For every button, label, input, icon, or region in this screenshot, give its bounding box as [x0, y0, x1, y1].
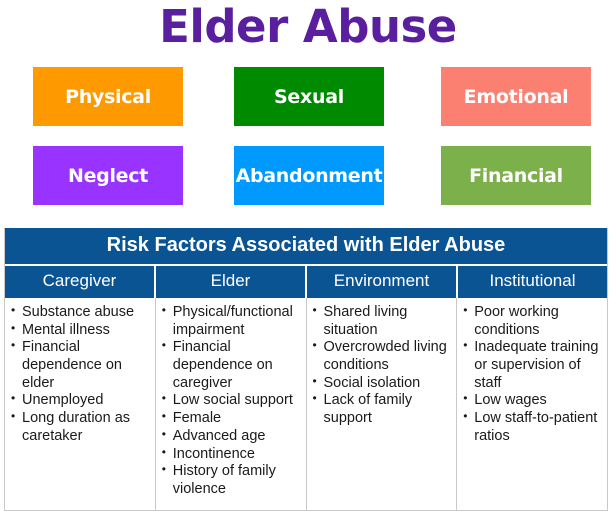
risk-factor-item: Low social support [160, 392, 302, 410]
abuse-type-row-2: Neglect Abandonment Financial [0, 146, 616, 205]
abuse-type-chip-neglect[interactable]: Neglect [33, 146, 183, 205]
risk-factor-item: Poor working conditions [461, 304, 603, 339]
abuse-type-chip-sexual[interactable]: Sexual [234, 67, 384, 126]
risk-factor-item: Substance abuse [9, 304, 151, 322]
risk-factor-list: Poor working conditionsInadequate traini… [461, 304, 603, 446]
abuse-type-chip-abandonment[interactable]: Abandonment [234, 146, 384, 205]
risk-factor-item: Lack of family support [311, 392, 453, 427]
risk-factor-item: Overcrowded living conditions [311, 339, 453, 374]
abuse-type-label: Emotional [464, 86, 569, 108]
risk-factor-item: Low wages [461, 392, 603, 410]
abuse-type-chip-financial[interactable]: Financial [441, 146, 591, 205]
risk-factor-item: History of family violence [160, 463, 302, 498]
risk-factor-item: Unemployed [9, 392, 151, 410]
page-title: Elder Abuse [0, 0, 616, 52]
risk-factor-list: Shared living situationOvercrowded livin… [311, 304, 453, 428]
column-header-institutional: Institutional [458, 266, 607, 298]
abuse-type-chip-physical[interactable]: Physical [33, 67, 183, 126]
abuse-type-label: Sexual [274, 86, 344, 108]
risk-factor-item: Mental illness [9, 322, 151, 340]
risk-factor-item: Financial dependence on caregiver [160, 339, 302, 392]
column-header-elder: Elder [156, 266, 307, 298]
abuse-type-row-1: Physical Sexual Emotional [0, 67, 616, 126]
abuse-type-chip-emotional[interactable]: Emotional [441, 67, 591, 126]
risk-factor-item: Female [160, 410, 302, 428]
risk-factors-column-headers: Caregiver Elder Environment Institutiona… [5, 264, 607, 298]
risk-factor-item: Inadequate training or supervision of st… [461, 339, 603, 392]
risk-factors-table: Risk Factors Associated with Elder Abuse… [4, 228, 608, 511]
abuse-type-label: Abandonment [236, 165, 383, 187]
column-header-environment: Environment [307, 266, 458, 298]
column-body-caregiver: Substance abuseMental illnessFinancial d… [5, 298, 156, 510]
risk-factor-item: Advanced age [160, 428, 302, 446]
risk-factor-item: Social isolation [311, 375, 453, 393]
spacer [384, 67, 441, 126]
column-body-elder: Physical/functional impairmentFinancial … [156, 298, 307, 510]
spacer [183, 67, 234, 126]
risk-factor-item: Shared living situation [311, 304, 453, 339]
abuse-type-label: Financial [469, 165, 563, 187]
risk-factor-list: Physical/functional impairmentFinancial … [160, 304, 302, 499]
risk-factor-list: Substance abuseMental illnessFinancial d… [9, 304, 151, 446]
column-header-caregiver: Caregiver [5, 266, 156, 298]
column-body-institutional: Poor working conditionsInadequate traini… [457, 298, 607, 510]
abuse-type-label: Neglect [68, 165, 148, 187]
spacer [183, 146, 234, 205]
risk-factor-item: Physical/functional impairment [160, 304, 302, 339]
risk-factors-table-title: Risk Factors Associated with Elder Abuse [5, 228, 607, 264]
column-body-environment: Shared living situationOvercrowded livin… [307, 298, 458, 510]
spacer [384, 146, 441, 205]
risk-factors-body: Substance abuseMental illnessFinancial d… [5, 298, 607, 510]
risk-factor-item: Incontinence [160, 446, 302, 464]
risk-factor-item: Long duration as caretaker [9, 410, 151, 445]
risk-factor-item: Low staff-to-patient ratios [461, 410, 603, 445]
risk-factor-item: Financial dependence on elder [9, 339, 151, 392]
abuse-type-label: Physical [65, 86, 151, 108]
